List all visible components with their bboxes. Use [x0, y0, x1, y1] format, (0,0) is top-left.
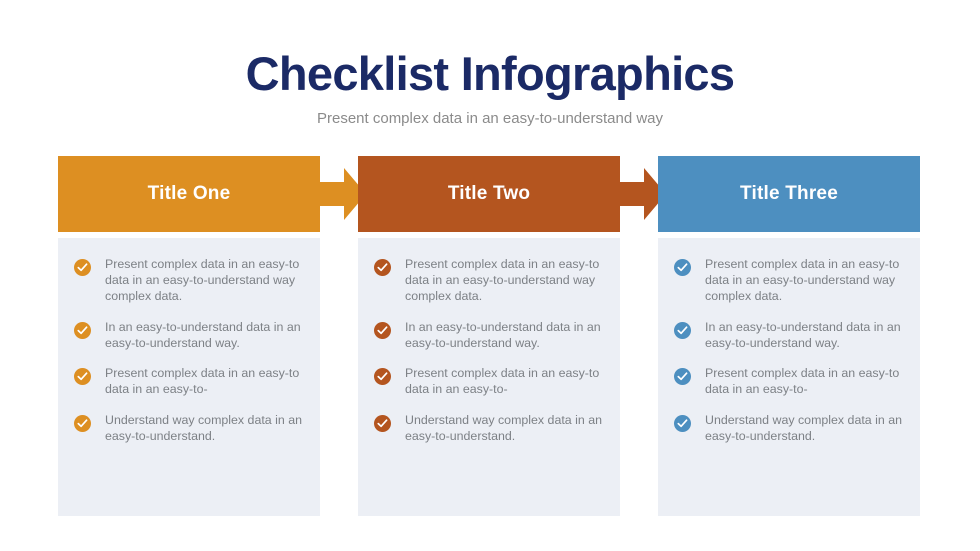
- checklist-item-text: In an easy-to-understand data in an easy…: [405, 320, 604, 352]
- checklist-item-text: Understand way complex data in an easy-t…: [105, 413, 304, 445]
- checklist-item[interactable]: Present complex data in an easy-to data …: [374, 366, 604, 398]
- page-title: Checklist Infographics: [0, 47, 980, 101]
- column-title: Title Three: [740, 183, 838, 205]
- checklist-column: Title TwoPresent complex data in an easy…: [358, 156, 620, 516]
- checklist-item-text: Present complex data in an easy-to data …: [405, 257, 604, 305]
- checklist-item-text: In an easy-to-understand data in an easy…: [105, 320, 304, 352]
- checklist-columns: Title OnePresent complex data in an easy…: [58, 156, 920, 516]
- checklist-item[interactable]: In an easy-to-understand data in an easy…: [374, 320, 604, 352]
- check-icon: [674, 322, 691, 339]
- infographic-slide: Checklist Infographics Present complex d…: [0, 0, 980, 551]
- checklist-item[interactable]: Understand way complex data in an easy-t…: [74, 413, 304, 445]
- check-icon: [74, 415, 91, 432]
- checklist-item-text: Understand way complex data in an easy-t…: [705, 413, 904, 445]
- checklist-item-text: Present complex data in an easy-to data …: [105, 257, 304, 305]
- checklist-item[interactable]: Present complex data in an easy-to data …: [74, 366, 304, 398]
- check-icon: [74, 368, 91, 385]
- check-icon: [74, 322, 91, 339]
- check-icon: [74, 259, 91, 276]
- column-body: Present complex data in an easy-to data …: [658, 238, 920, 516]
- check-icon: [374, 368, 391, 385]
- column-header[interactable]: Title Three: [658, 156, 920, 232]
- checklist-item[interactable]: Present complex data in an easy-to data …: [374, 257, 604, 305]
- check-icon: [374, 259, 391, 276]
- checklist-item[interactable]: Understand way complex data in an easy-t…: [374, 413, 604, 445]
- check-icon: [374, 322, 391, 339]
- check-icon: [674, 368, 691, 385]
- checklist-item[interactable]: In an easy-to-understand data in an easy…: [74, 320, 304, 352]
- page-subtitle: Present complex data in an easy-to-under…: [0, 110, 980, 128]
- checklist-item-text: Understand way complex data in an easy-t…: [405, 413, 604, 445]
- checklist-item[interactable]: Understand way complex data in an easy-t…: [674, 413, 904, 445]
- check-icon: [674, 259, 691, 276]
- checklist-item-text: In an easy-to-understand data in an easy…: [705, 320, 904, 352]
- column-header[interactable]: Title One: [58, 156, 320, 232]
- checklist-item-text: Present complex data in an easy-to data …: [705, 257, 904, 305]
- checklist-column: Title ThreePresent complex data in an ea…: [658, 156, 920, 516]
- check-icon: [674, 415, 691, 432]
- column-title: Title One: [148, 183, 231, 205]
- checklist-column: Title OnePresent complex data in an easy…: [58, 156, 320, 516]
- check-icon: [374, 415, 391, 432]
- checklist-item-text: Present complex data in an easy-to data …: [105, 366, 304, 398]
- checklist-item[interactable]: In an easy-to-understand data in an easy…: [674, 320, 904, 352]
- checklist-item-text: Present complex data in an easy-to data …: [705, 366, 904, 398]
- checklist-item-text: Present complex data in an easy-to data …: [405, 366, 604, 398]
- checklist-item[interactable]: Present complex data in an easy-to data …: [674, 366, 904, 398]
- column-body: Present complex data in an easy-to data …: [58, 238, 320, 516]
- column-header[interactable]: Title Two: [358, 156, 620, 232]
- column-title: Title Two: [448, 183, 530, 205]
- column-body: Present complex data in an easy-to data …: [358, 238, 620, 516]
- checklist-item[interactable]: Present complex data in an easy-to data …: [674, 257, 904, 305]
- checklist-item[interactable]: Present complex data in an easy-to data …: [74, 257, 304, 305]
